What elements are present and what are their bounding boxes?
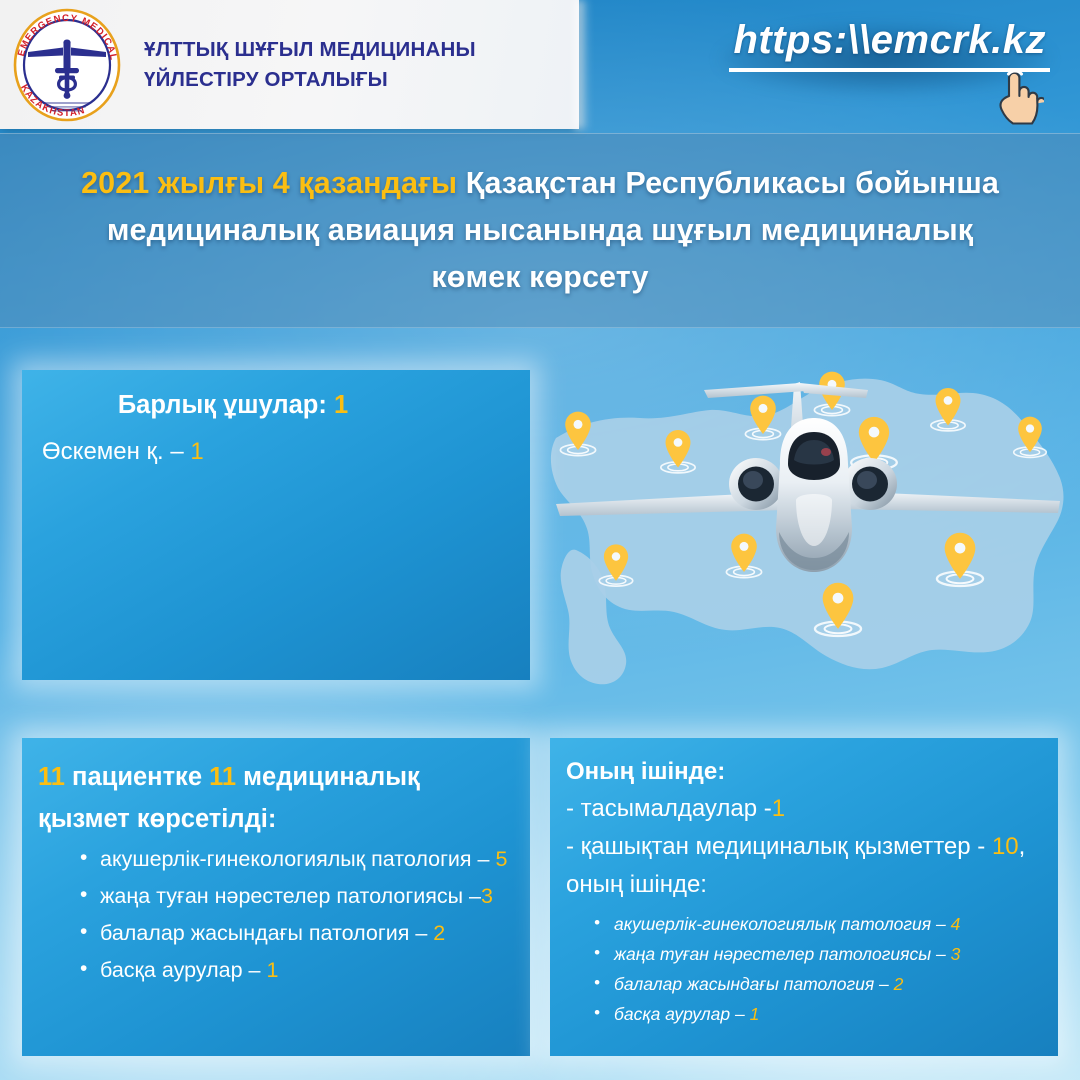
breakdown-heading: Оның ішінде: [566,754,1040,790]
breakdown-lines: - тасымалдаулар -1 - қашықтан медициналы… [566,790,1040,904]
flights-card: Барлық ұшулар: 1 Өскемен қ. – 1 [22,370,530,680]
breakdown-card: Оның ішінде: - тасымалдаулар -1 - қашықт… [550,738,1058,1056]
list-item: балалар жасындағы патология – 2 [592,972,1040,997]
kazakhstan-map-with-aircraft [548,360,1068,710]
title-date-highlight: 2021 жылғы 4 қазандағы [81,166,457,200]
patient-item-value: 3 [481,884,493,908]
breakdown-item-label: акушерлік-гинекологиялық патология – [614,914,946,934]
patients-heading: 11 пациентке 11 медициналық қызмет көрсе… [38,756,510,840]
patients-count-primary: 11 [38,763,65,791]
list-item: - қашықтан медициналық қызметтер - 10, о… [566,828,1040,904]
patients-card: 11 пациентке 11 медициналық қызмет көрсе… [22,738,530,1056]
list-item: балалар жасындағы патология – 2 [80,918,510,948]
organization-name: ҰЛТТЫҚ ШҰҒЫЛ МЕДИЦИНАНЫ ҮЙЛЕСТІРУ ОРТАЛЫ… [144,35,476,95]
transport-label: - тасымалдаулар - [566,795,772,822]
breakdown-item-value: 4 [951,914,961,934]
patient-item-value: 1 [266,958,278,982]
breakdown-sublist: акушерлік-гинекологиялық патология – 4 ж… [592,912,1040,1027]
list-item: Өскемен қ. – 1 [42,434,510,470]
patients-count-secondary: 11 [209,763,236,791]
breakdown-item-value: 1 [750,1004,760,1024]
page-title: 2021 жылғы 4 қазандағы Қазақстан Республ… [80,160,1000,301]
breakdown-item-label: басқа аурулар – [614,1004,745,1024]
site-url-link[interactable]: https:\\emcrk.kz [729,18,1050,72]
list-item: жаңа туған нәрестелер патологиясы –3 [80,881,510,911]
emcrk-logo: EMERGENCY MEDICAL CARE OF KAZAKHSTAN [8,6,126,124]
org-name-line-1: ҰЛТТЫҚ ШҰҒЫЛ МЕДИЦИНАНЫ [144,35,476,65]
patients-list: акушерлік-гинекологиялық патология – 5 ж… [80,844,510,985]
list-item: акушерлік-гинекологиялық патология – 4 [592,912,1040,937]
title-band: 2021 жылғы 4 қазандағы Қазақстан Республ… [0,133,1080,328]
breakdown-item-value: 3 [951,944,961,964]
patient-item-label: жаңа туған нәрестелер патологиясы – [100,884,481,908]
telemed-value: 10 [992,833,1019,860]
header-band: EMERGENCY MEDICAL CARE OF KAZAKHSTAN [0,0,579,129]
patients-heading-mid: пациентке [65,763,209,791]
telemed-label: - қашықтан медициналық қызметтер - [566,833,992,860]
breakdown-item-value: 2 [894,974,904,994]
patient-item-label: акушерлік-гинекологиялық патология – [100,847,490,871]
list-item: басқа аурулар – 1 [592,1002,1040,1027]
patient-item-value: 2 [433,921,445,945]
list-item: акушерлік-гинекологиялық патология – 5 [80,844,510,874]
list-item: - тасымалдаулар -1 [566,790,1040,828]
patient-item-value: 5 [495,847,507,871]
flights-heading: Барлық ұшулар: 1 [42,388,510,422]
breakdown-item-label: жаңа туған нәрестелер патологиясы – [614,944,946,964]
org-name-line-2: ҮЙЛЕСТІРУ ОРТАЛЫҒЫ [144,65,476,95]
hand-cursor-icon [992,66,1044,131]
transport-value: 1 [772,795,785,822]
flight-city-label: Өскемен қ. – [42,438,184,465]
list-item: жаңа туған нәрестелер патологиясы – 3 [592,942,1040,967]
flight-city-value: 1 [190,438,203,465]
list-item: басқа аурулар – 1 [80,955,510,985]
patient-item-label: басқа аурулар – [100,958,260,982]
breakdown-item-label: балалар жасындағы патология – [614,974,889,994]
flights-list: Өскемен қ. – 1 [42,434,510,470]
flights-heading-value: 1 [334,391,348,419]
patient-item-label: балалар жасындағы патология – [100,921,427,945]
website-link-area[interactable]: https:\\emcrk.kz [710,18,1050,114]
flights-heading-label: Барлық ұшулар: [118,391,327,419]
